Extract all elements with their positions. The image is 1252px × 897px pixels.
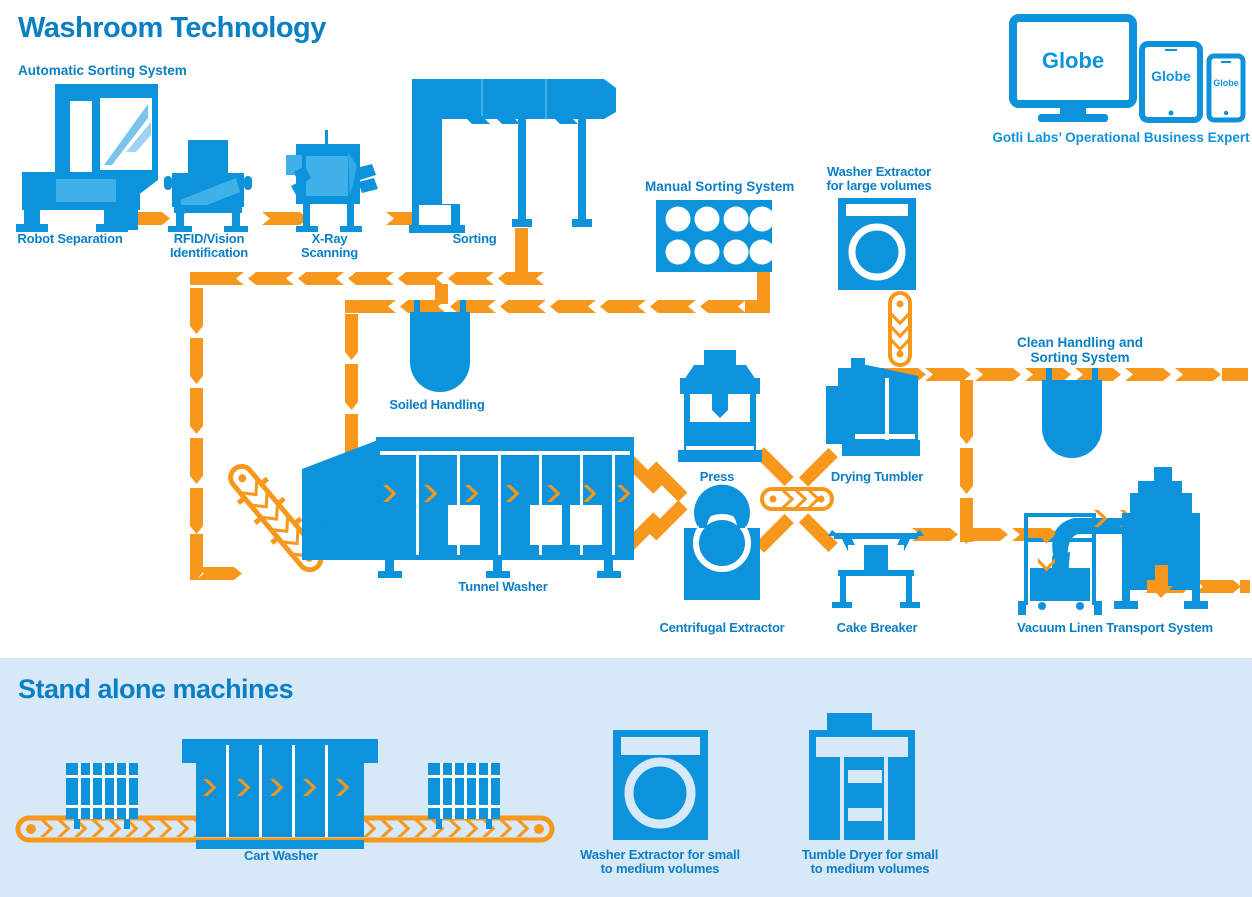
icon-clean-handling-bag <box>1042 368 1102 458</box>
icon-tunnel-washer <box>302 437 634 578</box>
icon-press <box>678 350 762 462</box>
section-label-manual-sorting: Manual Sorting System <box>645 179 794 194</box>
label-vacuum-linen-transport: Vacuum Linen Transport System <box>1010 621 1220 635</box>
section-label-automatic-sorting: Automatic Sorting System <box>18 63 187 78</box>
label-soiled-handling: Soiled Handling <box>372 398 502 412</box>
vertical-chain-conveyor <box>890 293 910 365</box>
icon-cake-breaker <box>828 530 924 608</box>
section-label-clean-handling: Clean Handling and Sorting System <box>1014 335 1146 365</box>
diagram-canvas: Washroom Technology Stand alone machines… <box>0 0 1252 897</box>
icon-laundry-cart-right <box>428 759 500 829</box>
icon-robot-separation <box>16 84 158 232</box>
label-washer-extractor-large: Washer Extractor for large volumes <box>820 165 938 193</box>
label-washer-extractor-small: Washer Extractor for small to medium vol… <box>575 848 745 876</box>
label-rfid-vision: RFID/Vision Identification <box>154 232 264 260</box>
desktop-screen-label: Globe <box>1013 48 1133 74</box>
label-cake-breaker: Cake Breaker <box>825 621 929 635</box>
label-centrifugal-extractor: Centrifugal Extractor <box>650 621 794 635</box>
icon-rfid-vision <box>164 140 252 232</box>
icon-manual-sorting-system <box>656 200 775 272</box>
icon-soiled-handling <box>410 300 470 392</box>
branding-caption: Gotli Labs’ Operational Business Expert <box>990 130 1252 145</box>
icon-tumble-dryer-small <box>809 713 915 840</box>
icon-washer-extractor-small <box>613 730 708 840</box>
label-drying-tumbler: Drying Tumbler <box>826 470 928 484</box>
icon-laundry-cart-left <box>66 759 138 829</box>
label-press: Press <box>685 470 749 484</box>
page-title: Washroom Technology <box>18 12 326 45</box>
tablet-screen-label: Globe <box>1142 68 1200 84</box>
phone-screen-label: Globe <box>1209 78 1243 88</box>
label-robot-separation: Robot Separation <box>5 232 135 246</box>
icon-cart-washer <box>182 739 378 849</box>
label-cart-washer: Cart Washer <box>216 849 346 863</box>
label-tumble-dryer-small: Tumble Dryer for small to medium volumes <box>797 848 943 876</box>
stand-alone-title: Stand alone machines <box>18 674 293 705</box>
icon-centrifugal-extractor <box>684 485 760 600</box>
label-tunnel-washer: Tunnel Washer <box>438 580 568 594</box>
label-xray-scanning: X-Ray Scanning <box>282 232 377 260</box>
label-sorting: Sorting <box>432 232 517 246</box>
icon-sorting <box>409 79 616 233</box>
icon-washer-extractor-large <box>838 198 916 290</box>
